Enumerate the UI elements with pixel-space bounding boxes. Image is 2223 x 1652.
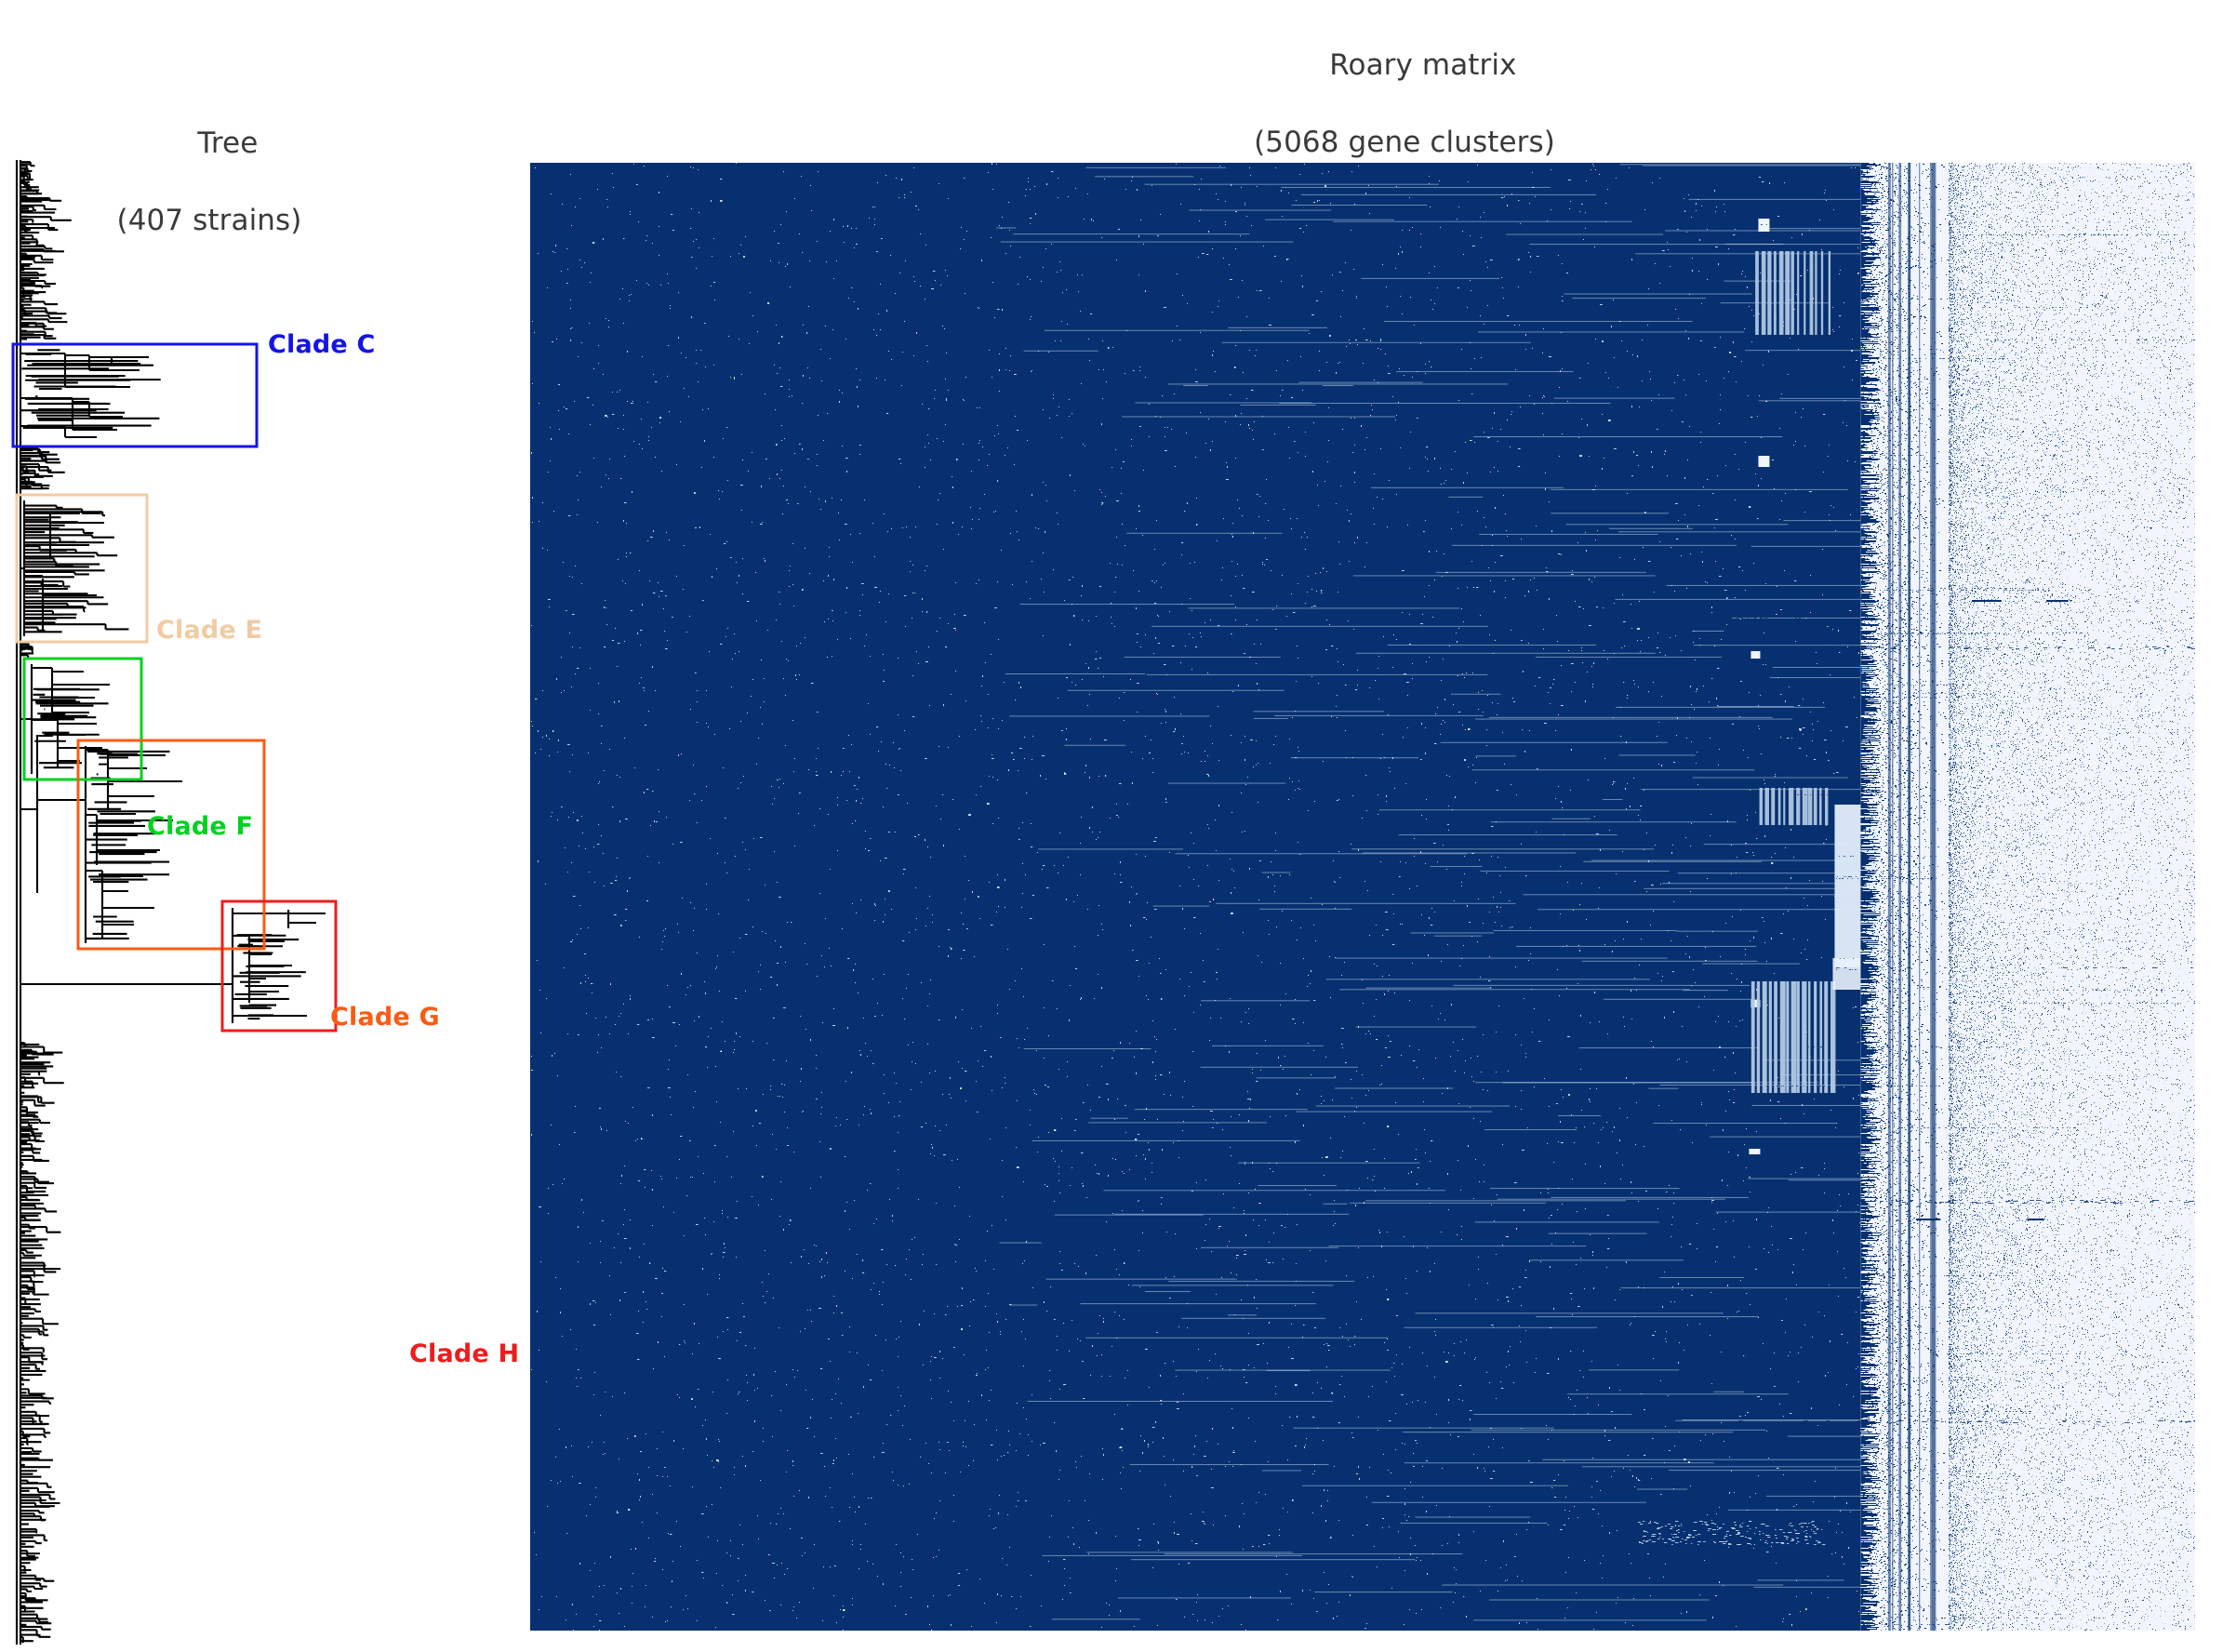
clade-label-g: Clade G xyxy=(330,1003,440,1032)
matrix-title-line1: Roary matrix xyxy=(1329,48,1516,82)
tree-title-line1: Tree xyxy=(197,127,258,160)
phylogenetic-tree xyxy=(0,158,521,1646)
clade-label-f: Clade F xyxy=(147,812,253,841)
roary-matrix-panel xyxy=(530,163,2195,1631)
clade-label-e: Clade E xyxy=(156,616,262,645)
phylogenetic-tree-panel xyxy=(0,158,521,1646)
roary-matrix-heatmap xyxy=(530,163,2195,1631)
matrix-title-line2: (5068 gene clusters) xyxy=(1060,124,1749,163)
clade-label-c: Clade C xyxy=(268,330,376,359)
clade-box-c xyxy=(13,344,257,446)
clade-label-h: Clade H xyxy=(409,1339,519,1368)
figure-root: Roary matrix (5068 gene clusters) Tree (… xyxy=(0,0,2223,1652)
